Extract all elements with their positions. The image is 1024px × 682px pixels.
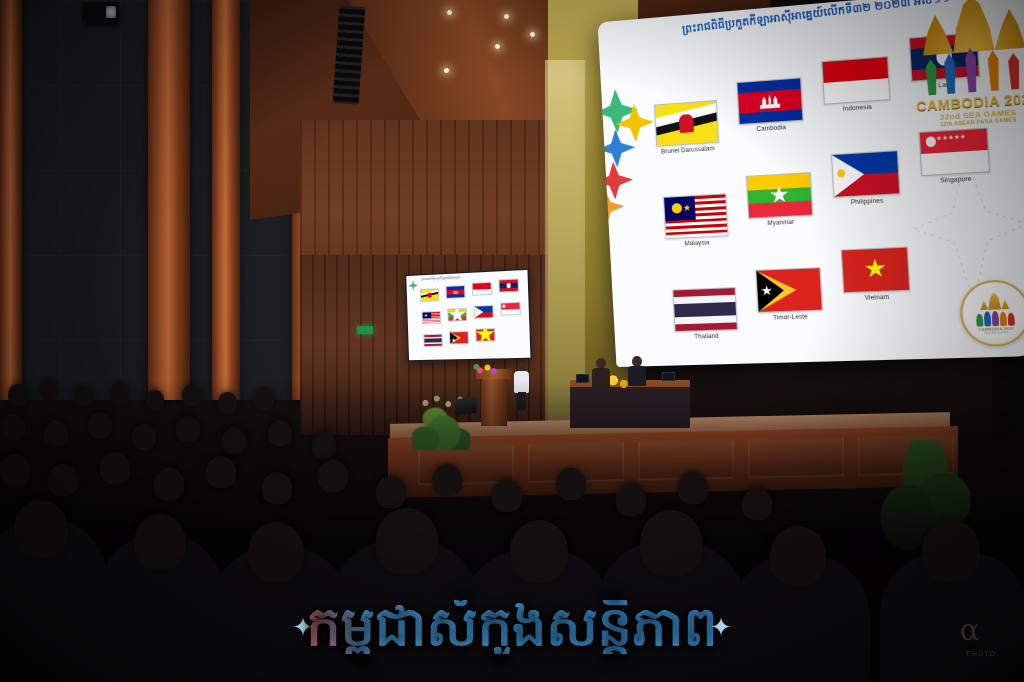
flag-item-cambodia: Cambodia [736, 77, 804, 134]
flag-cambodia-icon [736, 77, 803, 125]
audience-head [48, 464, 78, 496]
ceiling-light [530, 32, 535, 37]
flag-label: Philippines [834, 197, 901, 207]
audience-head-front [376, 508, 438, 574]
podium-flower-arrangement [471, 362, 501, 376]
audience-head [432, 464, 462, 496]
flag-label: Indonesia [824, 103, 891, 114]
sea-games-figures-icon [918, 43, 1024, 96]
star-decoration-small [407, 279, 419, 291]
flag-item-vietnam: Vietnam [841, 247, 911, 303]
ceiling-light [447, 10, 452, 15]
spotlight-icon [82, 2, 118, 22]
audience-head-front [922, 520, 980, 582]
audience-head [100, 452, 130, 484]
secondary-display-screen: ព្រះរាជពិធីប្រកួតកីឡាអាស៊ីអាគ្នេយ៍ ★ [405, 269, 531, 361]
flag-philippines-icon [831, 150, 900, 198]
audience-head [742, 488, 772, 520]
audience-head [312, 432, 336, 458]
flag-vietnam-icon-small [475, 328, 495, 342]
flag-item-singapore: ★★★★★ Singapore [919, 128, 991, 186]
audience-head [132, 424, 156, 450]
flag-thailand-icon-small [423, 334, 443, 347]
audience-head-front [14, 500, 68, 558]
audience-head [678, 472, 708, 504]
audience-head [154, 468, 184, 500]
audience-head [206, 456, 236, 488]
flag-item-thailand: Thailand [672, 287, 738, 341]
flag-label: Myanmar [748, 219, 813, 228]
main-projection-screen: ព្រះរាជពិធីប្រកួតកីឡាអាស៊ីអាគ្នេយ៍លើកទី៣… [598, 0, 1024, 367]
flag-item-indonesia: Indonesia [821, 56, 891, 114]
flag-label: Timor-Leste [758, 314, 824, 322]
wood-column [212, 0, 240, 400]
badge-subtitle: 32nd SEA GAMES [984, 330, 1009, 334]
flag-timor-icon-small: ★ [449, 331, 469, 345]
secondary-slide-title: ព្រះរាជពិធីប្រកួតកីឡាអាស៊ីអាគ្នេយ៍ [421, 275, 460, 282]
flag-item-malaysia: ★ Malaysia [663, 193, 729, 248]
flag-timor-leste-icon: ★ [755, 267, 823, 313]
flag-item-timor-leste: ★ Timor-Leste [755, 267, 823, 322]
badge-crown-icon [979, 292, 1009, 310]
flag-brunei-icon-small [420, 288, 439, 302]
audience-head [218, 392, 237, 413]
audience-head [254, 388, 274, 410]
audience-head [146, 390, 164, 410]
audience-head [88, 412, 112, 438]
audience-head [556, 468, 586, 500]
flag-malaysia-icon: ★ [663, 193, 728, 239]
flag-label: Vietnam [843, 294, 910, 303]
flag-myanmar-icon-small [447, 308, 467, 322]
khmer-caption-overlay: កម្ពុជាសំកូងសន្តិភាព [0, 600, 1024, 654]
flag-singapore-icon-small [500, 302, 521, 316]
audience-head-front [640, 510, 702, 576]
alpha-watermark-sub: PHOTO [966, 651, 996, 658]
audience-head [40, 380, 58, 400]
audience-head [2, 414, 26, 440]
flag-myanmar-icon [746, 172, 813, 219]
flag-cambodia-icon-small [446, 285, 466, 299]
flag-item-myanmar: Myanmar [746, 172, 814, 228]
audience-head-front [134, 514, 186, 570]
flag-item-philippines: Philippines [831, 150, 901, 207]
slide-canvas: ព្រះរាជពិធីប្រកួតកីឡាអាស៊ីអាគ្នេយ៍លើកទី៣… [598, 0, 1024, 367]
audience-head [0, 454, 30, 486]
audience-head [110, 382, 130, 404]
flag-label: Brunei Darussalam [656, 146, 719, 156]
alpha-watermark: α [960, 613, 980, 648]
flag-thailand-icon [672, 287, 738, 332]
ceiling-light [444, 68, 449, 73]
flag-malaysia-icon-small [422, 311, 441, 325]
sparkle-icon-right: ✦ [708, 614, 734, 640]
audience-head [74, 386, 93, 407]
ceiling-light [495, 44, 500, 49]
flag-indonesia-icon-small [472, 282, 492, 296]
flag-item-brunei: Brunei Darussalam [654, 100, 720, 156]
audience-head-front [248, 522, 304, 582]
flag-indonesia-icon [821, 56, 890, 105]
wood-column [148, 0, 190, 400]
flag-label: Malaysia [666, 239, 729, 248]
flag-label: Thailand [675, 333, 739, 341]
flag-brunei-darussalam-icon [654, 100, 719, 147]
exit-sign [357, 326, 373, 334]
audience-head [492, 480, 522, 512]
ceiling-light [504, 14, 509, 19]
flag-philippines-icon-small [474, 305, 494, 319]
audience-head [44, 420, 68, 446]
audience-head [262, 472, 292, 504]
audience-head [182, 384, 202, 406]
audience-head [222, 428, 246, 454]
audience-head [376, 476, 406, 508]
flag-label: Cambodia [739, 124, 804, 134]
flag-vietnam-icon [841, 247, 911, 294]
badge-figures-icon [976, 310, 1015, 326]
audience-head [318, 460, 348, 492]
audience-head-front [510, 520, 568, 582]
audience-head-front [770, 526, 826, 586]
audience-head [616, 484, 646, 516]
cambodia-2023-logo: CAMBODIA 2023 32nd SEA GAMES 12th ASEAN … [909, 0, 1024, 136]
screenshot-root: ព្រះរាជពិធីប្រកួតកីឡាអាស៊ីអាគ្នេយ៍លើកទី៣… [0, 0, 1024, 682]
audience-head [176, 416, 200, 442]
flag-laos-icon-small [498, 278, 519, 292]
audience-head [268, 420, 292, 446]
wood-column [0, 0, 22, 400]
audience-head [8, 384, 28, 406]
